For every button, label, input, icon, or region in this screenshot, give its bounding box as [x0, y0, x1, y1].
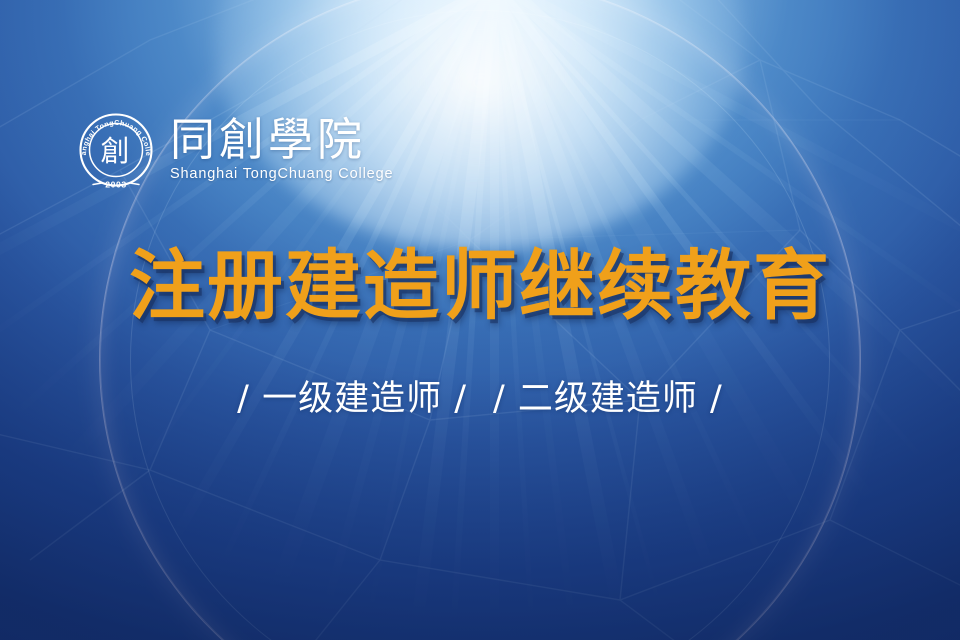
svg-text:創: 創: [100, 135, 129, 168]
promo-banner: Shanghai TongChuang College 創 2003 同創學院 …: [0, 0, 960, 640]
logo-name-cn: 同創學院: [170, 117, 393, 165]
svg-text:2003: 2003: [105, 180, 127, 190]
logo-name-en: Shanghai TongChuang College: [170, 167, 393, 183]
college-logo: Shanghai TongChuang College 創 2003 同創學院 …: [74, 108, 393, 192]
subtitle-line: / 一级建造师 // 二级建造师 /: [0, 378, 960, 420]
subtitle-segment-1: / 一级建造师 /: [237, 378, 467, 420]
college-emblem-icon: Shanghai TongChuang College 創 2003: [74, 108, 158, 192]
headline-title: 注册建造师继续教育: [0, 248, 960, 324]
logo-wordmark: 同創學院 Shanghai TongChuang College: [170, 117, 393, 184]
subtitle-segment-2: / 二级建造师 /: [493, 378, 723, 420]
